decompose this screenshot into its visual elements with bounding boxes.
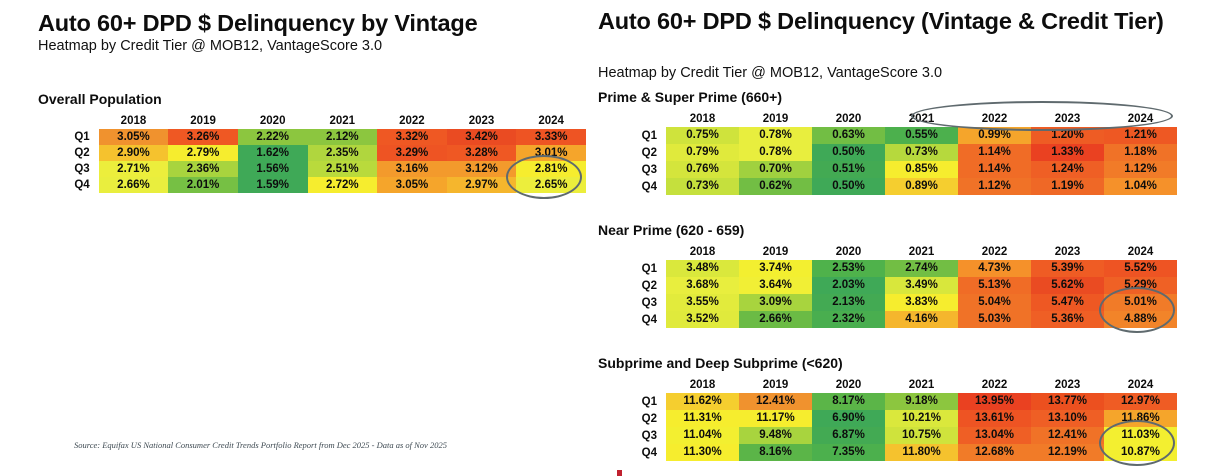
- heatmap-row: Q43.52%2.66%2.32%4.16%5.03%5.36%4.88%: [598, 311, 1177, 328]
- heatmap-cell: 3.74%: [739, 260, 812, 277]
- heatmap-cell: 2.01%: [168, 177, 238, 193]
- heatmap-row: Q23.68%3.64%2.03%3.49%5.13%5.62%5.29%: [598, 277, 1177, 294]
- heatmap-cell: 3.01%: [516, 145, 586, 161]
- heatmap-cell: 5.03%: [958, 311, 1031, 328]
- heatmap-cell: 1.18%: [1104, 144, 1177, 161]
- heatmap-cell: 0.75%: [666, 127, 739, 144]
- right-panel-title: Auto 60+ DPD $ Delinquency (Vintage & Cr…: [598, 8, 1173, 35]
- heatmap-cell: 2.79%: [168, 145, 238, 161]
- heatmap-cell: 11.86%: [1104, 410, 1177, 427]
- heatmap-cell: 0.79%: [666, 144, 739, 161]
- heatmap-cell: 11.30%: [666, 444, 739, 461]
- heatmap-cell: 11.62%: [666, 393, 739, 410]
- heatmap-cell: 0.89%: [885, 178, 958, 195]
- heatmap-year-header: 2023: [1031, 241, 1104, 260]
- heatmap-cell: 11.31%: [666, 410, 739, 427]
- heatmap-corner-cell: [598, 374, 666, 393]
- heatmap-row: Q13.48%3.74%2.53%2.74%4.73%5.39%5.52%: [598, 260, 1177, 277]
- heatmap-cell: 5.13%: [958, 277, 1031, 294]
- heatmap-cell: 3.32%: [377, 129, 447, 145]
- heatmap-year-header: 2021: [885, 374, 958, 393]
- right-panel-subtitle: Heatmap by Credit Tier @ MOB12, VantageS…: [598, 65, 1173, 82]
- heatmap-quarter-label: Q3: [598, 427, 666, 444]
- heatmap-cell: 3.05%: [377, 177, 447, 193]
- heatmap-cell: 8.16%: [739, 444, 812, 461]
- heatmap-cell: 5.01%: [1104, 294, 1177, 311]
- heatmap-cell: 3.52%: [666, 311, 739, 328]
- heatmap-cell: 0.73%: [666, 178, 739, 195]
- heatmap-cell: 3.12%: [447, 161, 517, 177]
- heatmap-quarter-label: Q4: [38, 177, 99, 193]
- heatmap-row: Q33.55%3.09%2.13%3.83%5.04%5.47%5.01%: [598, 294, 1177, 311]
- heatmap-year-header: 2023: [1031, 108, 1104, 127]
- heatmap-cell: 2.65%: [516, 177, 586, 193]
- heatmap-quarter-label: Q3: [38, 161, 99, 177]
- heatmap-year-header: 2023: [1031, 374, 1104, 393]
- heatmap-quarter-label: Q4: [598, 178, 666, 195]
- right-panel: Auto 60+ DPD $ Delinquency (Vintage & Cr…: [586, 0, 1208, 476]
- heatmap-cell: 9.18%: [885, 393, 958, 410]
- heatmap-cell: 13.61%: [958, 410, 1031, 427]
- heatmap-cell: 8.17%: [812, 393, 885, 410]
- heatmap-quarter-label: Q2: [598, 410, 666, 427]
- near-prime-heatmap-table: 2018201920202021202220232024Q13.48%3.74%…: [598, 241, 1177, 328]
- heatmap-cell: 2.74%: [885, 260, 958, 277]
- heatmap-year-header: 2022: [377, 110, 447, 129]
- heatmap-cell: 2.53%: [812, 260, 885, 277]
- heatmap-quarter-label: Q3: [598, 294, 666, 311]
- heatmap-year-header: 2023: [447, 110, 517, 129]
- heatmap-cell: 0.62%: [739, 178, 812, 195]
- heatmap-cell: 3.49%: [885, 277, 958, 294]
- heatmap-cell: 1.12%: [1104, 161, 1177, 178]
- heatmap-row: Q22.90%2.79%1.62%2.35%3.29%3.28%3.01%: [38, 145, 586, 161]
- heatmap-year-header: 2018: [666, 374, 739, 393]
- heatmap-cell: 2.03%: [812, 277, 885, 294]
- heatmap-cell: 5.52%: [1104, 260, 1177, 277]
- near-prime-section-title: Near Prime (620 - 659): [598, 222, 744, 238]
- heatmap-quarter-label: Q2: [598, 144, 666, 161]
- heatmap-row: Q20.79%0.78%0.50%0.73%1.14%1.33%1.18%: [598, 144, 1177, 161]
- heatmap-row: Q13.05%3.26%2.22%2.12%3.32%3.42%3.33%: [38, 129, 586, 145]
- left-panel-subtitle: Heatmap by Credit Tier @ MOB12, VantageS…: [38, 38, 578, 55]
- heatmap-cell: 3.05%: [99, 129, 169, 145]
- heatmap-year-header: 2021: [885, 241, 958, 260]
- heatmap-cell: 3.42%: [447, 129, 517, 145]
- heatmap-year-header: 2018: [666, 241, 739, 260]
- source-note: Source: Equifax US National Consumer Cre…: [74, 440, 447, 450]
- heatmap-cell: 0.73%: [885, 144, 958, 161]
- heatmap-cell: 0.55%: [885, 127, 958, 144]
- bullet-marker-icon: [617, 470, 622, 476]
- heatmap-header-row: 2018201920202021202220232024: [598, 374, 1177, 393]
- heatmap-cell: 1.12%: [958, 178, 1031, 195]
- heatmap-year-header: 2024: [1104, 374, 1177, 393]
- heatmap-year-header: 2024: [516, 110, 586, 129]
- heatmap-cell: 2.81%: [516, 161, 586, 177]
- heatmap-year-header: 2020: [812, 374, 885, 393]
- heatmap-cell: 4.73%: [958, 260, 1031, 277]
- prime-section-title: Prime & Super Prime (660+): [598, 89, 782, 105]
- heatmap-cell: 2.12%: [308, 129, 378, 145]
- heatmap-cell: 1.56%: [238, 161, 308, 177]
- overall-population-heatmap-table: 2018201920202021202220232024Q13.05%3.26%…: [38, 110, 586, 193]
- heatmap-cell: 1.59%: [238, 177, 308, 193]
- heatmap-cell: 3.55%: [666, 294, 739, 311]
- heatmap-cell: 3.68%: [666, 277, 739, 294]
- heatmap-cell: 0.78%: [739, 127, 812, 144]
- heatmap-quarter-label: Q1: [598, 127, 666, 144]
- heatmap-row: Q32.71%2.36%1.56%2.51%3.16%3.12%2.81%: [38, 161, 586, 177]
- heatmap-corner-cell: [38, 110, 99, 129]
- left-panel: Auto 60+ DPD $ Delinquency by Vintage He…: [0, 0, 586, 476]
- heatmap-cell: 0.85%: [885, 161, 958, 178]
- heatmap-cell: 3.29%: [377, 145, 447, 161]
- heatmap-cell: 0.51%: [812, 161, 885, 178]
- heatmap-year-header: 2019: [739, 374, 812, 393]
- heatmap-cell: 11.04%: [666, 427, 739, 444]
- heatmap-cell: 2.22%: [238, 129, 308, 145]
- heatmap-cell: 1.19%: [1031, 178, 1104, 195]
- heatmap-cell: 5.47%: [1031, 294, 1104, 311]
- heatmap-cell: 7.35%: [812, 444, 885, 461]
- heatmap-row: Q42.66%2.01%1.59%2.72%3.05%2.97%2.65%: [38, 177, 586, 193]
- heatmap-corner-cell: [598, 108, 666, 127]
- heatmap-quarter-label: Q2: [598, 277, 666, 294]
- heatmap-cell: 5.36%: [1031, 311, 1104, 328]
- heatmap-row: Q311.04%9.48%6.87%10.75%13.04%12.41%11.0…: [598, 427, 1177, 444]
- heatmap-year-header: 2021: [885, 108, 958, 127]
- heatmap-year-header: 2020: [238, 110, 308, 129]
- heatmap-corner-cell: [598, 241, 666, 260]
- heatmap-cell: 11.03%: [1104, 427, 1177, 444]
- heatmap-cell: 12.97%: [1104, 393, 1177, 410]
- heatmap-quarter-label: Q2: [38, 145, 99, 161]
- heatmap-cell: 10.75%: [885, 427, 958, 444]
- heatmap-cell: 2.71%: [99, 161, 169, 177]
- heatmap-cell: 1.21%: [1104, 127, 1177, 144]
- heatmap-header-row: 2018201920202021202220232024: [38, 110, 586, 129]
- heatmap-year-header: 2020: [812, 241, 885, 260]
- heatmap-cell: 9.48%: [739, 427, 812, 444]
- heatmap-row: Q10.75%0.78%0.63%0.55%0.99%1.20%1.21%: [598, 127, 1177, 144]
- heatmap-cell: 13.04%: [958, 427, 1031, 444]
- heatmap-row: Q40.73%0.62%0.50%0.89%1.12%1.19%1.04%: [598, 178, 1177, 195]
- heatmap-cell: 3.48%: [666, 260, 739, 277]
- heatmap-quarter-label: Q4: [598, 311, 666, 328]
- heatmap-cell: 4.88%: [1104, 311, 1177, 328]
- heatmap-year-header: 2022: [958, 241, 1031, 260]
- heatmap-header-row: 2018201920202021202220232024: [598, 241, 1177, 260]
- heatmap-row: Q30.76%0.70%0.51%0.85%1.14%1.24%1.12%: [598, 161, 1177, 178]
- heatmap-cell: 6.87%: [812, 427, 885, 444]
- heatmap-row: Q211.31%11.17%6.90%10.21%13.61%13.10%11.…: [598, 410, 1177, 427]
- heatmap-cell: 12.19%: [1031, 444, 1104, 461]
- heatmap-year-header: 2024: [1104, 241, 1177, 260]
- heatmap-cell: 5.04%: [958, 294, 1031, 311]
- heatmap-cell: 3.09%: [739, 294, 812, 311]
- heatmap-cell: 0.63%: [812, 127, 885, 144]
- heatmap-cell: 12.68%: [958, 444, 1031, 461]
- heatmap-cell: 12.41%: [739, 393, 812, 410]
- heatmap-cell: 1.24%: [1031, 161, 1104, 178]
- heatmap-cell: 2.13%: [812, 294, 885, 311]
- left-panel-title: Auto 60+ DPD $ Delinquency by Vintage: [38, 10, 578, 37]
- heatmap-cell: 6.90%: [812, 410, 885, 427]
- heatmap-year-header: 2018: [99, 110, 169, 129]
- heatmap-cell: 4.16%: [885, 311, 958, 328]
- heatmap-cell: 3.33%: [516, 129, 586, 145]
- heatmap-header-row: 2018201920202021202220232024: [598, 108, 1177, 127]
- prime-heatmap-table: 2018201920202021202220232024Q10.75%0.78%…: [598, 108, 1177, 195]
- heatmap-cell: 5.39%: [1031, 260, 1104, 277]
- heatmap-quarter-label: Q3: [598, 161, 666, 178]
- heatmap-cell: 0.70%: [739, 161, 812, 178]
- heatmap-year-header: 2021: [308, 110, 378, 129]
- heatmap-cell: 0.76%: [666, 161, 739, 178]
- heatmap-cell: 5.62%: [1031, 277, 1104, 294]
- heatmap-cell: 0.50%: [812, 178, 885, 195]
- heatmap-cell: 2.66%: [99, 177, 169, 193]
- heatmap-quarter-label: Q1: [598, 260, 666, 277]
- heatmap-cell: 3.16%: [377, 161, 447, 177]
- heatmap-quarter-label: Q1: [38, 129, 99, 145]
- subprime-section-title: Subprime and Deep Subprime (<620): [598, 355, 843, 371]
- heatmap-cell: 0.50%: [812, 144, 885, 161]
- heatmap-cell: 3.83%: [885, 294, 958, 311]
- heatmap-cell: 2.32%: [812, 311, 885, 328]
- heatmap-cell: 3.26%: [168, 129, 238, 145]
- heatmap-cell: 10.21%: [885, 410, 958, 427]
- heatmap-cell: 12.41%: [1031, 427, 1104, 444]
- heatmap-quarter-label: Q1: [598, 393, 666, 410]
- heatmap-cell: 0.78%: [739, 144, 812, 161]
- heatmap-year-header: 2018: [666, 108, 739, 127]
- heatmap-row: Q411.30%8.16%7.35%11.80%12.68%12.19%10.8…: [598, 444, 1177, 461]
- heatmap-cell: 1.20%: [1031, 127, 1104, 144]
- heatmap-cell: 10.87%: [1104, 444, 1177, 461]
- heatmap-row: Q111.62%12.41%8.17%9.18%13.95%13.77%12.9…: [598, 393, 1177, 410]
- heatmap-cell: 5.29%: [1104, 277, 1177, 294]
- heatmap-cell: 2.51%: [308, 161, 378, 177]
- heatmap-cell: 2.35%: [308, 145, 378, 161]
- heatmap-cell: 13.95%: [958, 393, 1031, 410]
- heatmap-cell: 2.36%: [168, 161, 238, 177]
- heatmap-year-header: 2022: [958, 108, 1031, 127]
- heatmap-cell: 0.99%: [958, 127, 1031, 144]
- heatmap-cell: 1.62%: [238, 145, 308, 161]
- subprime-heatmap-table: 2018201920202021202220232024Q111.62%12.4…: [598, 374, 1177, 461]
- heatmap-year-header: 2019: [739, 241, 812, 260]
- heatmap-cell: 13.10%: [1031, 410, 1104, 427]
- heatmap-cell: 2.66%: [739, 311, 812, 328]
- heatmap-cell: 11.17%: [739, 410, 812, 427]
- heatmap-cell: 3.28%: [447, 145, 517, 161]
- heatmap-cell: 13.77%: [1031, 393, 1104, 410]
- heatmap-quarter-label: Q4: [598, 444, 666, 461]
- heatmap-year-header: 2022: [958, 374, 1031, 393]
- heatmap-cell: 2.90%: [99, 145, 169, 161]
- heatmap-cell: 2.97%: [447, 177, 517, 193]
- heatmap-cell: 3.64%: [739, 277, 812, 294]
- heatmap-cell: 1.14%: [958, 161, 1031, 178]
- heatmap-cell: 2.72%: [308, 177, 378, 193]
- heatmap-cell: 1.04%: [1104, 178, 1177, 195]
- heatmap-year-header: 2019: [739, 108, 812, 127]
- heatmap-cell: 11.80%: [885, 444, 958, 461]
- heatmap-year-header: 2020: [812, 108, 885, 127]
- heatmap-year-header: 2019: [168, 110, 238, 129]
- heatmap-cell: 1.14%: [958, 144, 1031, 161]
- overall-population-section-title: Overall Population: [38, 91, 162, 107]
- heatmap-cell: 1.33%: [1031, 144, 1104, 161]
- heatmap-year-header: 2024: [1104, 108, 1177, 127]
